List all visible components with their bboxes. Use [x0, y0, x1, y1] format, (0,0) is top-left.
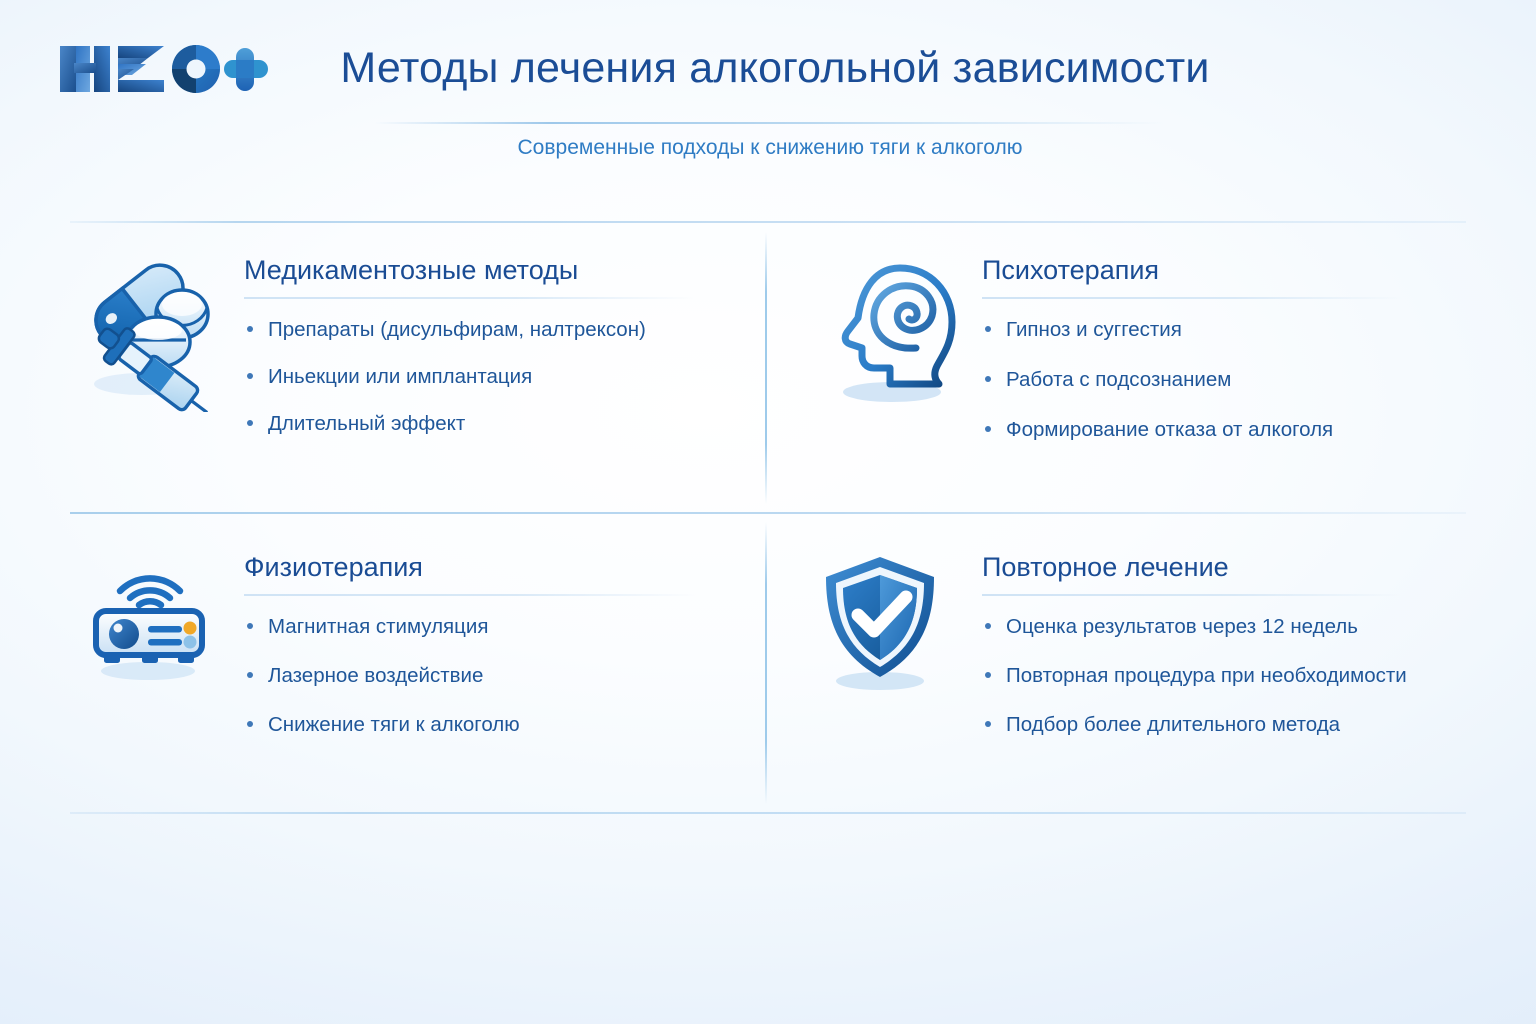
neo-plus-logo [56, 36, 288, 102]
head-spiral-icon [818, 248, 968, 488]
header: Методы лечения алкогольной зависимости С… [0, 0, 1536, 190]
card-title: Медикаментозные методы [244, 256, 750, 286]
title-divider [375, 122, 1165, 124]
list-item: Лазерное воздействие [244, 663, 750, 688]
card-bullet-list: Магнитная стимуляция Лазерное воздействи… [244, 614, 750, 737]
therapy-device-icon [80, 545, 230, 795]
list-item: Повторная процедура при необходимости [982, 663, 1458, 688]
shield-check-icon [818, 545, 968, 795]
card-bullet-list: Гипноз и суггестия Работа с подсознанием… [982, 317, 1458, 442]
divider-vertical-top [765, 232, 767, 504]
card-title-underline [244, 297, 696, 299]
card-title-underline [982, 594, 1402, 596]
divider-middle [70, 512, 1466, 514]
list-item: Снижение тяги к алкоголю [244, 712, 750, 737]
divider-top [70, 221, 1466, 223]
card-repeat-treatment: Повторное лечение Оценка результатов чер… [818, 545, 1458, 795]
pills-syringe-icon [80, 248, 230, 488]
list-item: Гипноз и суггестия [982, 317, 1458, 342]
card-title-underline [982, 297, 1402, 299]
list-item: Формирование отказа от алкоголя [982, 417, 1458, 442]
list-item: Оценка результатов через 12 недель [982, 614, 1458, 639]
list-item: Работа с подсознанием [982, 367, 1458, 392]
card-body: Повторное лечение Оценка результатов чер… [968, 545, 1458, 795]
list-item: Длительный эффект [244, 411, 750, 436]
page-title: Методы лечения алкогольной зависимости [300, 44, 1250, 93]
card-bullet-list: Оценка результатов через 12 недель Повто… [982, 614, 1458, 737]
card-title: Повторное лечение [982, 553, 1458, 583]
card-body: Физиотерапия Магнитная стимуляция Лазерн… [230, 545, 750, 795]
divider-bottom [70, 812, 1466, 814]
card-psychotherapy: Психотерапия Гипноз и суггестия Работа с… [818, 248, 1458, 488]
card-physiotherapy: Физиотерапия Магнитная стимуляция Лазерн… [80, 545, 750, 795]
card-bullet-list: Препараты (дисульфирам, налтрексон) Инье… [244, 317, 750, 436]
card-title: Физиотерапия [244, 553, 750, 583]
card-body: Психотерапия Гипноз и суггестия Работа с… [968, 248, 1458, 488]
card-medication: Медикаментозные методы Препараты (дисуль… [80, 248, 750, 488]
list-item: Магнитная стимуляция [244, 614, 750, 639]
card-title: Психотерапия [982, 256, 1458, 286]
list-item: Препараты (дисульфирам, налтрексон) [244, 317, 750, 342]
infographic-canvas: Методы лечения алкогольной зависимости С… [0, 0, 1536, 1024]
list-item: Иньекции или имплантация [244, 364, 750, 389]
card-title-underline [244, 594, 696, 596]
page-subtitle: Современные подходы к снижению тяги к ал… [330, 136, 1210, 160]
divider-vertical-bottom [765, 522, 767, 804]
list-item: Подбор более длительного метода [982, 712, 1458, 737]
card-body: Медикаментозные методы Препараты (дисуль… [230, 248, 750, 488]
